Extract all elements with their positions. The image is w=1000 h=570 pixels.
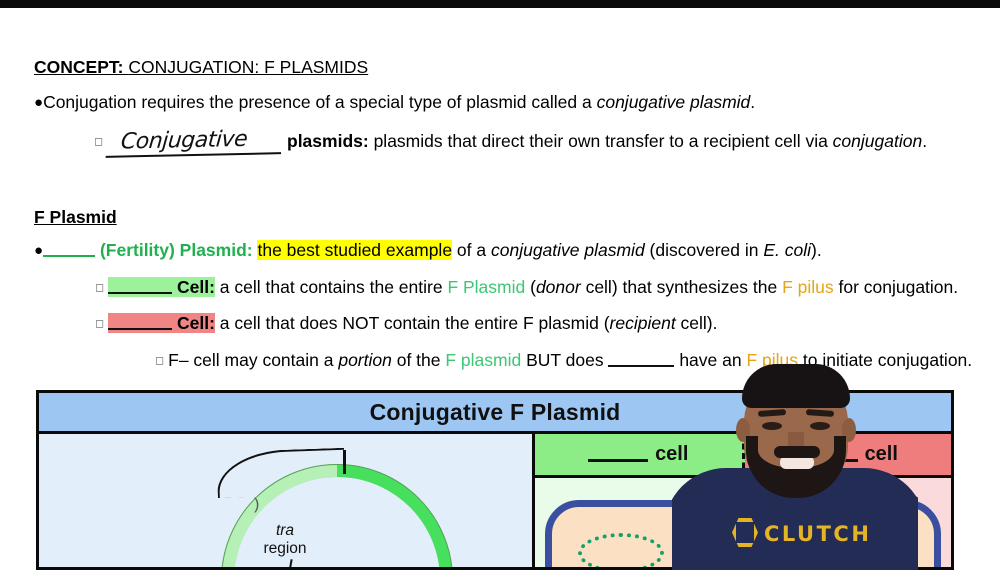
fill-blank-f [43, 243, 95, 257]
section-title-f-plasmid: F Plasmid [34, 207, 117, 228]
concept-label: CONCEPT: [34, 57, 123, 77]
moustache [774, 446, 820, 458]
donor-text-2: ( [525, 277, 536, 297]
bullet-dot-icon: ● [34, 242, 43, 259]
definition-period: . [922, 131, 927, 151]
eye-right [810, 422, 830, 430]
square-bullet-icon: □ [95, 135, 102, 149]
donor-text-4: for conjugation. [834, 277, 959, 297]
f-pilus-orange: F pilus [782, 277, 834, 297]
concept-heading: CONCEPT: CONJUGATION: F PLASMIDS [34, 57, 368, 78]
fill-blank-donor-cell [588, 448, 648, 462]
fill-blank-donor [108, 280, 172, 294]
bullet-text-post: . [750, 92, 755, 112]
f-bullet-mid2: (discovered in [645, 240, 764, 260]
square-bullet-icon: □ [156, 354, 163, 368]
recipient-cell-term: Cell: [177, 313, 215, 333]
donor-text-1: a cell that contains the entire [215, 277, 448, 297]
donor-italic: donor [536, 277, 581, 297]
instructor-webcam-overlay: CLUTCH [672, 360, 918, 570]
bullet-text-italic: conjugative plasmid [597, 92, 751, 112]
bullet-donor-cell: □ Cell: a cell that contains the entire … [96, 277, 958, 298]
f-bullet-mid: of a [452, 240, 491, 260]
fminus-text-1: F– cell may contain a [168, 350, 338, 370]
f-bullet-end: ). [811, 240, 822, 260]
f-bullet-italic-1: conjugative plasmid [491, 240, 645, 260]
fill-blank-not [608, 353, 674, 367]
bullet-text-pre: Conjugation requires the presence of a s… [43, 92, 597, 112]
clutch-brand-text: CLUTCH [764, 522, 871, 546]
eye-left [762, 422, 782, 430]
conjugation-italic: conjugation [833, 131, 923, 151]
fminus-italic: portion [338, 350, 392, 370]
donor-cell-highlight: Cell: [108, 277, 215, 297]
plasmids-definition: plasmids that direct their own transfer … [374, 131, 833, 151]
bullet-dot-icon: ● [34, 94, 43, 111]
concept-title: CONJUGATION: F PLASMIDS [128, 57, 368, 77]
bullet-recipient-cell: □ Cell: a cell that does NOT contain the… [96, 313, 718, 334]
handwritten-answer: Conjugative [106, 126, 284, 156]
square-bullet-icon: □ [96, 281, 103, 295]
bullet-conjugation-requires: ●Conjugation requires the presence of a … [34, 92, 755, 113]
recipient-italic: recipient [610, 313, 676, 333]
tra-label-line1: tra [276, 522, 294, 539]
tra-region-label: tra region [255, 522, 315, 558]
f-bullet-italic-2: E. coli [763, 240, 811, 260]
donor-text-3: cell) that synthesizes the [581, 277, 782, 297]
recipient-cell-highlight: Cell: [108, 313, 215, 333]
square-bullet-icon: □ [96, 317, 103, 331]
f-plasmid-green: F plasmid [445, 350, 521, 370]
hair [742, 364, 850, 408]
fertility-plasmid-term: (Fertility) Plasmid: [100, 240, 253, 260]
tra-region-bracket-icon [216, 448, 346, 498]
bullet-f-fertility-plasmid: ● (Fertility) Plasmid: the best studied … [34, 240, 822, 261]
tra-region-bracket-tick-icon [343, 450, 346, 474]
handwritten-answer-row: □ Conjugative plasmids: plasmids that di… [95, 128, 927, 154]
donor-cell-term: Cell: [177, 277, 215, 297]
recipient-text-2: cell). [676, 313, 718, 333]
highlight-best-studied: the best studied example [257, 240, 452, 260]
plasmid-panel: ) tra region Plasmid region: genes [39, 434, 535, 567]
leader-mark-icon: ) [254, 496, 259, 514]
fminus-text-2: of the [392, 350, 446, 370]
recipient-text-1: a cell that does NOT contain the entire … [215, 313, 610, 333]
fill-blank-recipient [108, 316, 172, 330]
fminus-text-3: BUT does [521, 350, 608, 370]
tra-label-line2: region [263, 540, 306, 557]
f-plasmid-green: F Plasmid [447, 277, 525, 297]
top-black-bar [0, 0, 1000, 8]
plasmids-term: plasmids: [287, 131, 369, 151]
slide-canvas: CONCEPT: CONJUGATION: F PLASMIDS ●Conjug… [0, 8, 1000, 562]
